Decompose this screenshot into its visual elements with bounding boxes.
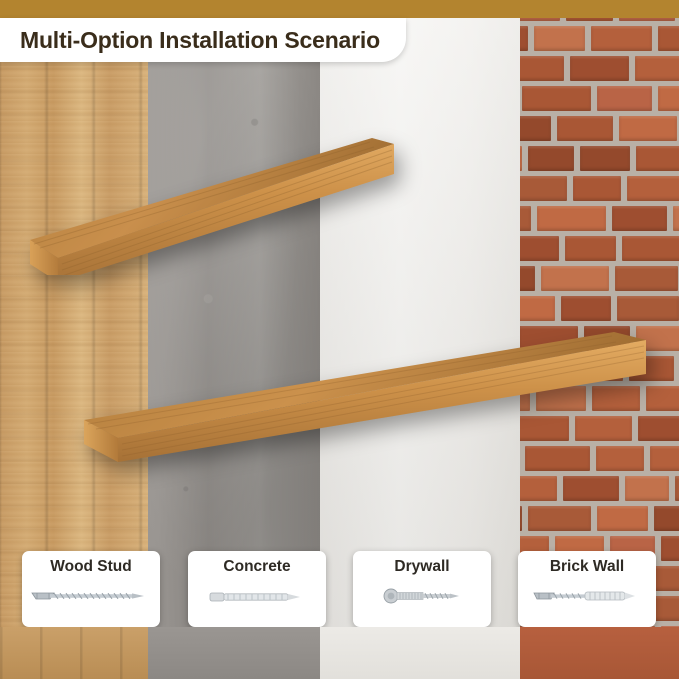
option-label-concrete: Concrete (223, 558, 290, 576)
brick-row (520, 204, 679, 234)
brick-anchor-screw-icon (518, 579, 656, 619)
brick (520, 236, 559, 261)
footer-drywall-strip (320, 627, 520, 679)
brick (522, 86, 591, 111)
option-card-wood-stud[interactable]: Wood Stud (22, 551, 160, 627)
option-label-drywall: Drywall (394, 558, 449, 576)
option-card-drywall[interactable]: Drywall (353, 551, 491, 627)
brick (617, 296, 679, 321)
product-infographic: Multi-Option Installation Scenario Wood … (0, 0, 679, 679)
brick (646, 386, 679, 411)
footer-brick-strip (520, 627, 679, 679)
brick (658, 86, 679, 111)
brick-row (520, 144, 679, 174)
brick (520, 206, 531, 231)
brick-row (520, 114, 679, 144)
brick (612, 206, 667, 231)
brick (591, 26, 652, 51)
brick (565, 236, 616, 261)
brick (658, 26, 679, 51)
option-label-wood-stud: Wood Stud (50, 558, 132, 576)
brick (636, 146, 679, 171)
brick (627, 176, 679, 201)
brick-row (520, 264, 679, 294)
wood-screw-icon (22, 579, 160, 619)
footer-concrete-strip (148, 627, 320, 679)
toggle-bolt-icon (353, 579, 491, 619)
option-card-concrete[interactable]: Concrete (188, 551, 326, 627)
brick-row (520, 504, 679, 534)
title-accent-bar (0, 0, 679, 18)
brick-row (520, 54, 679, 84)
brick (520, 56, 564, 81)
brick (597, 86, 652, 111)
title-banner: Multi-Option Installation Scenario (0, 18, 406, 62)
brick (635, 56, 679, 81)
brick-row (520, 174, 679, 204)
brick (557, 116, 613, 141)
brick (597, 506, 648, 531)
brick (520, 296, 555, 321)
brick (528, 146, 574, 171)
brick (520, 116, 551, 141)
brick-row (520, 294, 679, 324)
brick (534, 26, 585, 51)
brick (622, 236, 679, 261)
option-card-brick-wall[interactable]: Brick Wall (518, 551, 656, 627)
upper-shelf (22, 130, 394, 275)
brick-row (520, 234, 679, 264)
brick (520, 26, 528, 51)
brick (654, 506, 679, 531)
brick (619, 116, 677, 141)
brick (520, 176, 567, 201)
brick (673, 206, 679, 231)
brick (580, 146, 630, 171)
brick (615, 266, 678, 291)
lower-shelf (74, 326, 646, 486)
brick (537, 206, 606, 231)
brick (570, 56, 629, 81)
brick-row (520, 84, 679, 114)
brick (573, 176, 621, 201)
page-title: Multi-Option Installation Scenario (20, 27, 380, 54)
brick-row (520, 24, 679, 54)
option-label-brick-wall: Brick Wall (550, 558, 624, 576)
brick (675, 476, 679, 501)
concrete-anchor-icon (188, 579, 326, 619)
brick (520, 266, 535, 291)
footer-wood-strip (0, 627, 148, 679)
installation-options: Wood Stud (0, 551, 679, 627)
brick (520, 506, 522, 531)
brick (561, 296, 611, 321)
brick (541, 266, 609, 291)
brick (528, 506, 591, 531)
brick (650, 446, 679, 471)
brick (520, 146, 522, 171)
